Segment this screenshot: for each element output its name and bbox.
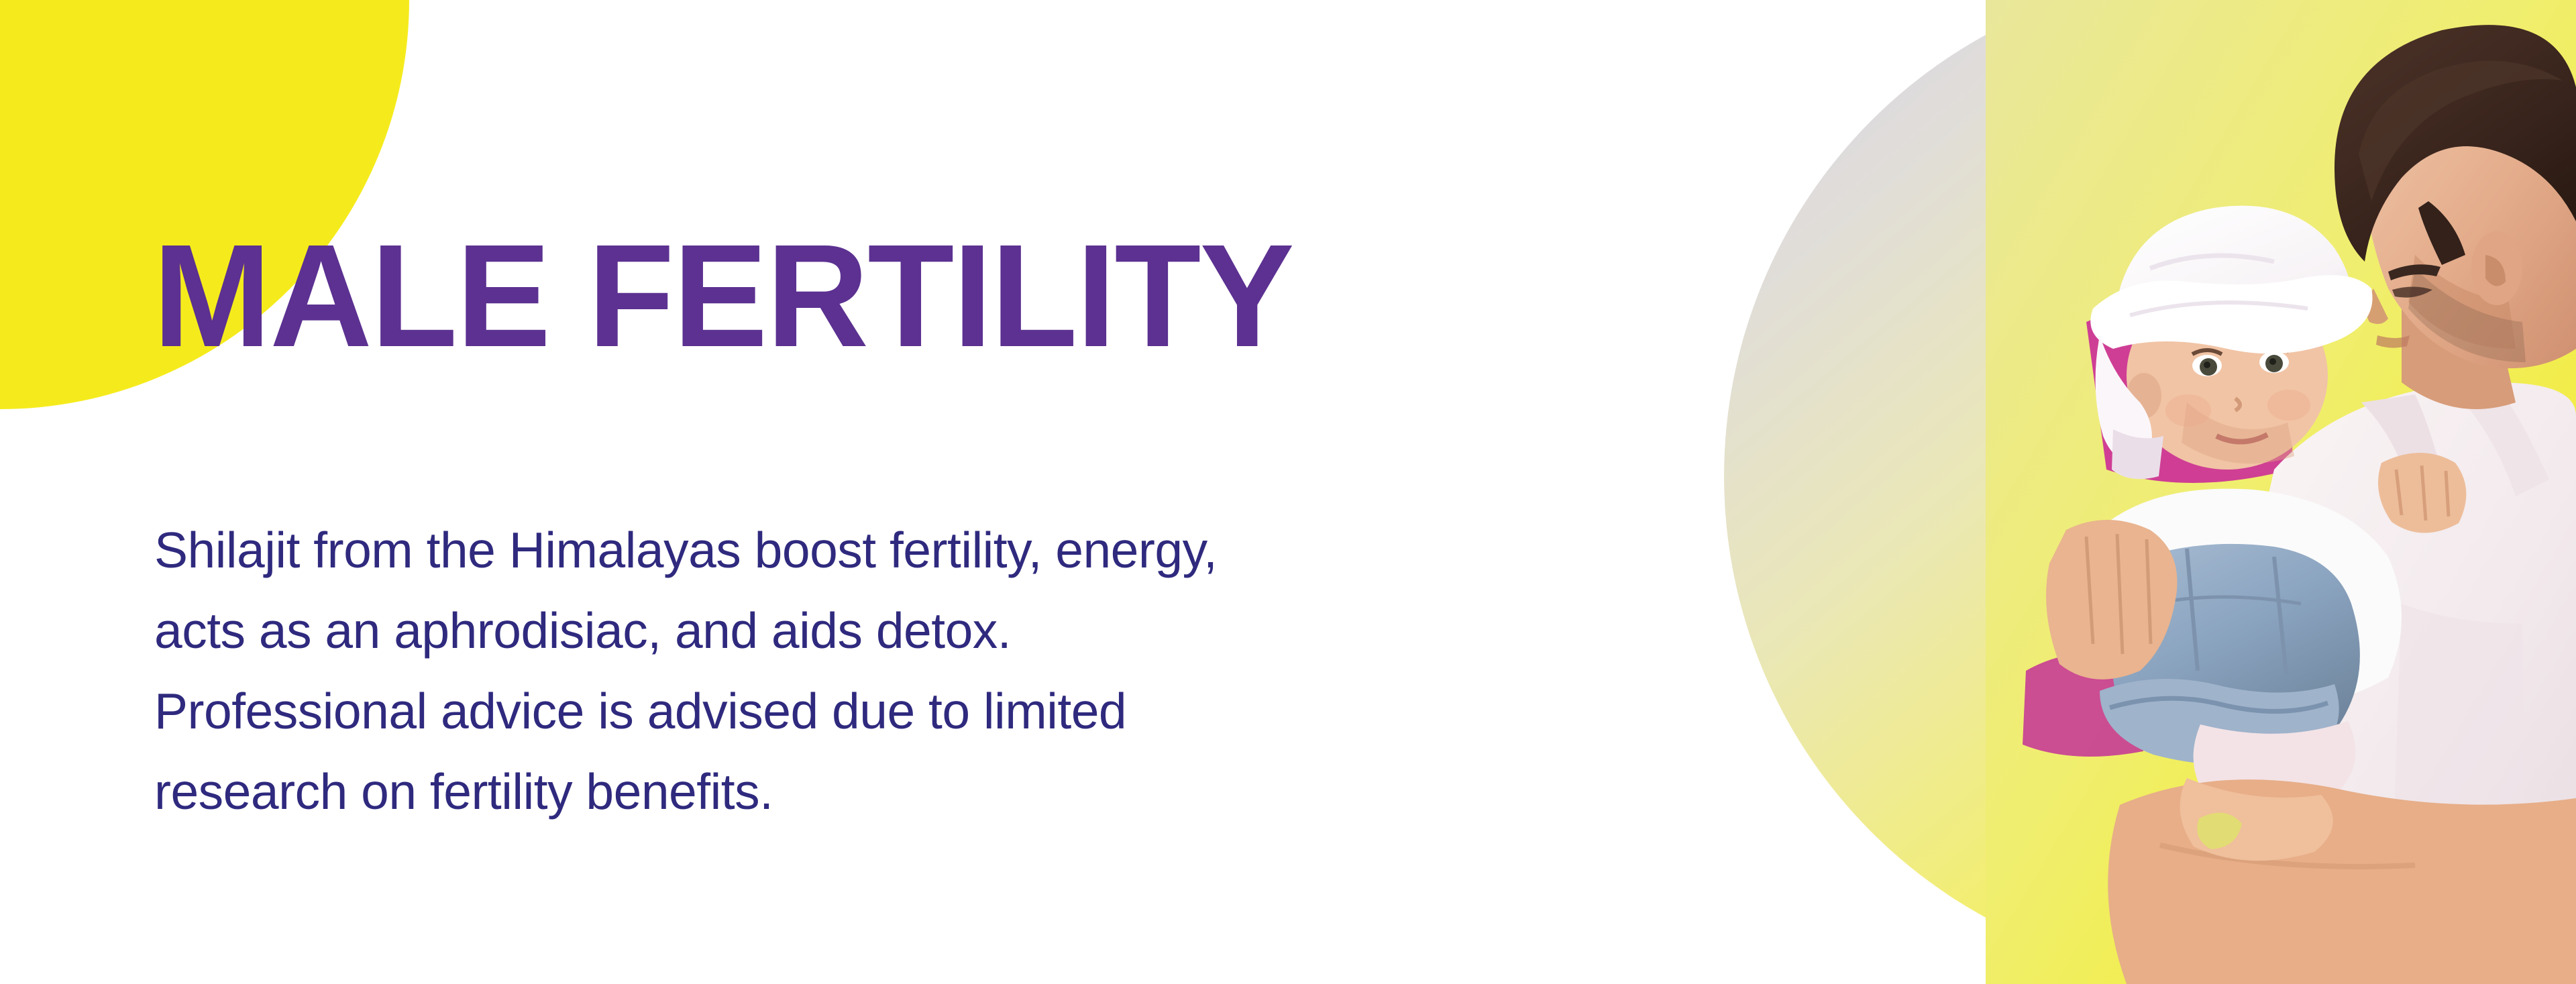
banner-text-column: MALE FERTILITY Shilajit from the Himalay… xyxy=(0,0,1543,984)
father-and-baby-photo xyxy=(1986,0,2576,984)
description-line-3: Professional advice is advised due to li… xyxy=(154,671,1496,751)
description-line-1: Shilajit from the Himalayas boost fertil… xyxy=(154,510,1496,590)
page-title: MALE FERTILITY xyxy=(153,223,1293,370)
description-line-2: acts as an aphrodisiac, and aids detox. xyxy=(154,590,1496,671)
description-line-4: research on fertility benefits. xyxy=(154,751,1496,832)
banner-description: Shilajit from the Himalayas boost fertil… xyxy=(154,510,1496,832)
male-fertility-banner: MALE FERTILITY Shilajit from the Himalay… xyxy=(0,0,2576,984)
